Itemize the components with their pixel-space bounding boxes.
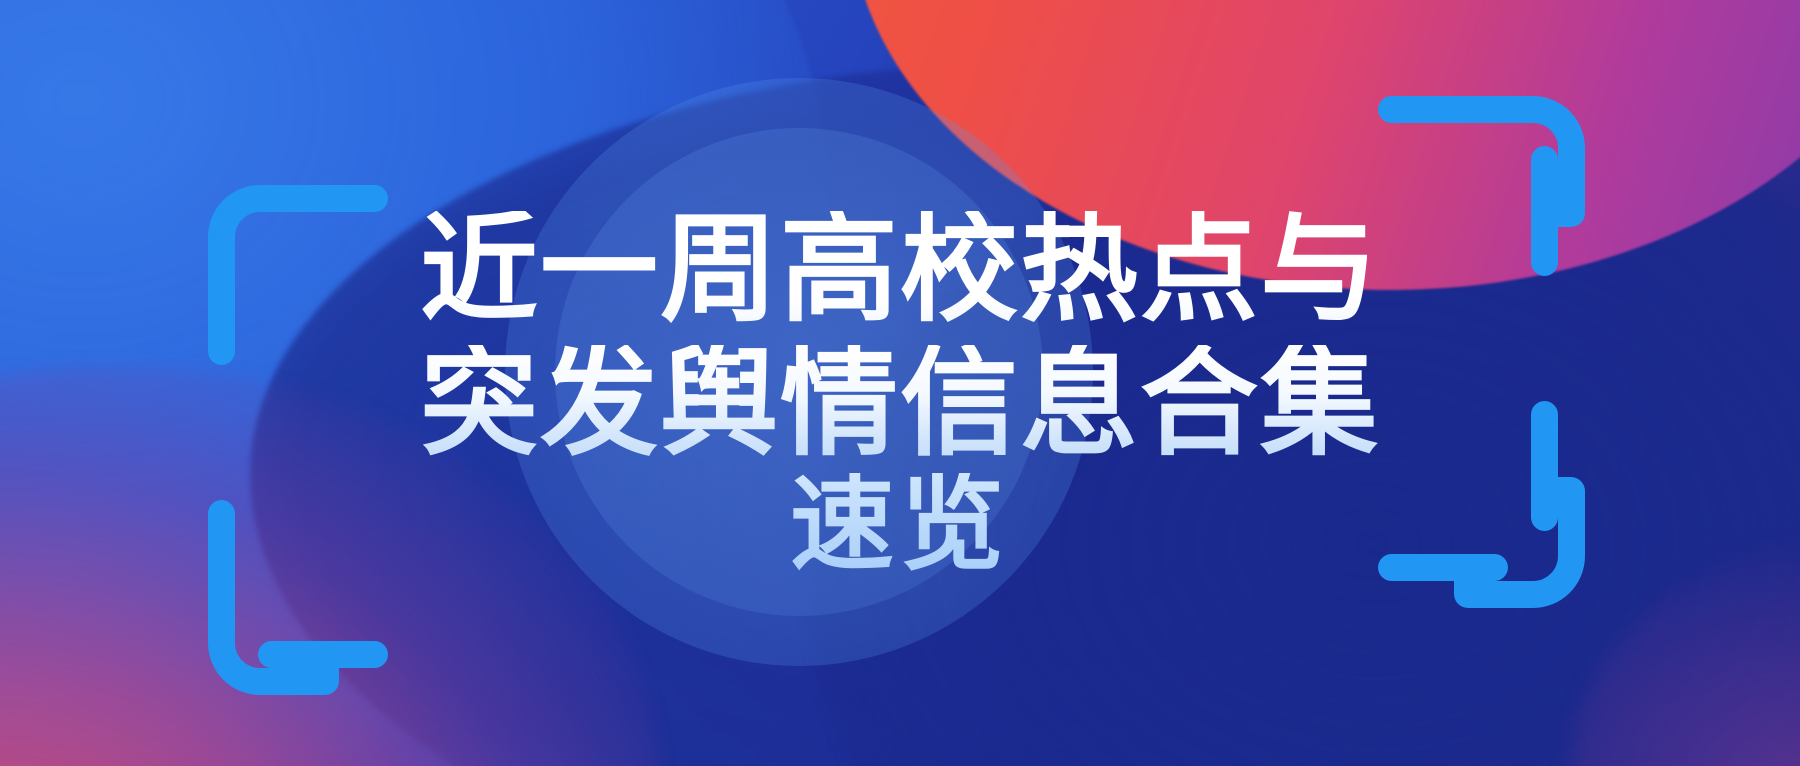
title-line-3: 速览 (790, 473, 1010, 577)
promo-banner: 近一周高校热点与 突发舆情信息合集 速览 (0, 0, 1800, 766)
title-line-1: 近一周高校热点与 (420, 211, 1380, 329)
banner-title-block: 近一周高校热点与 突发舆情信息合集 速览 (0, 0, 1800, 766)
title-line-2: 突发舆情信息合集 (420, 345, 1380, 463)
